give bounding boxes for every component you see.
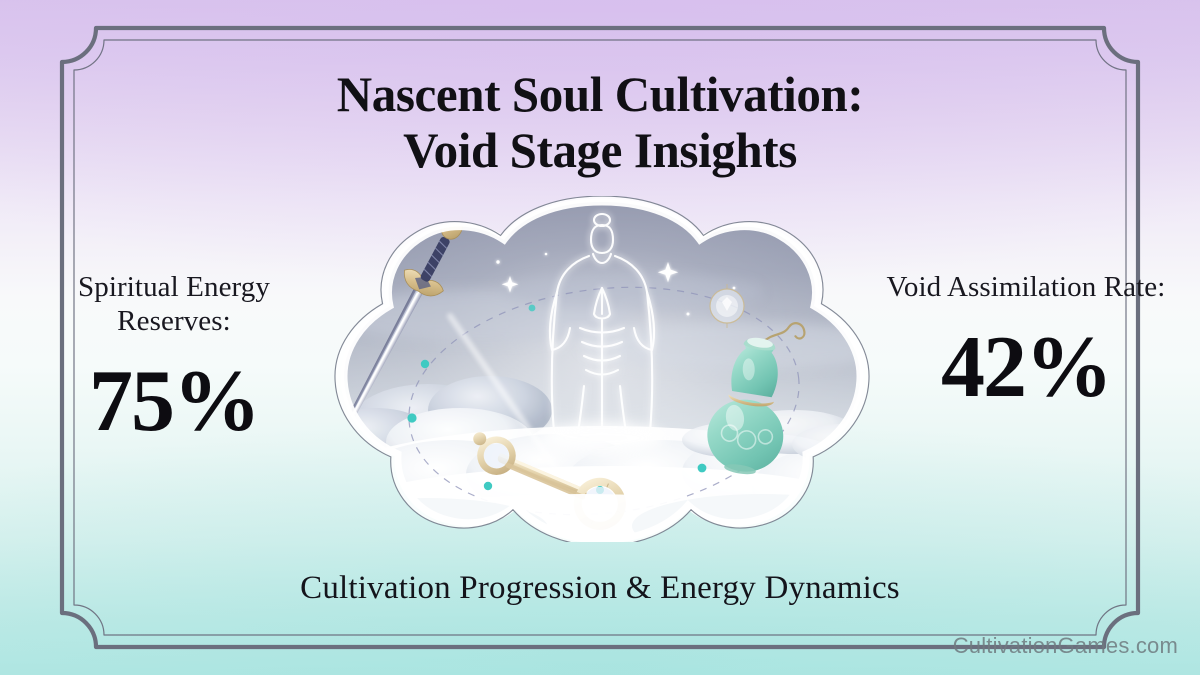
title-line-2: Void Stage Insights	[12, 122, 1188, 178]
poster-root: Nascent Soul Cultivation: Void Stage Ins…	[0, 0, 1200, 675]
cloud-illustration	[332, 196, 872, 542]
stat-spiritual-energy-reserves: Spiritual Energy Reserves: 75%	[24, 270, 324, 446]
stat-value: 75%	[24, 358, 324, 446]
title-line-1: Nascent Soul Cultivation:	[12, 66, 1188, 122]
stat-label: Void Assimilation Rate:	[876, 270, 1176, 304]
stat-value: 42%	[876, 324, 1176, 412]
page-title: Nascent Soul Cultivation: Void Stage Ins…	[0, 66, 1200, 178]
stat-void-assimilation-rate: Void Assimilation Rate: 42%	[876, 270, 1176, 412]
caption: Cultivation Progression & Energy Dynamic…	[0, 569, 1200, 607]
watermark: CultivationGames.com	[953, 633, 1178, 659]
figure-base-glow	[540, 422, 664, 454]
stat-label: Spiritual Energy Reserves:	[24, 270, 324, 338]
